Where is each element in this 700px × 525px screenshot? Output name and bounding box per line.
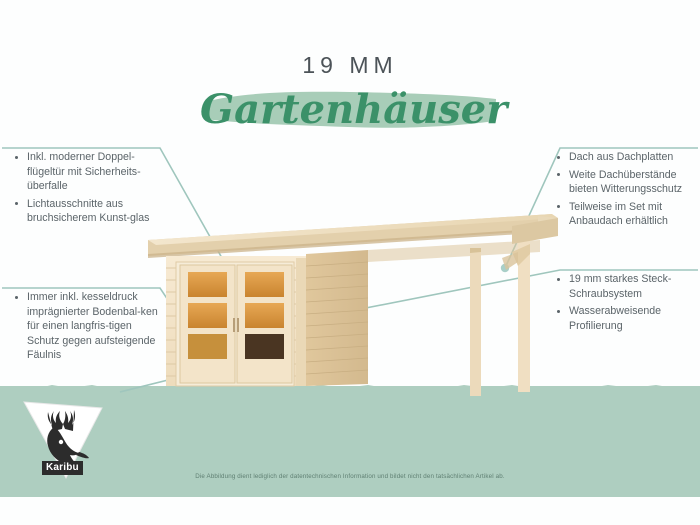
callout-item: Weite Dachüberstände bieten Witterungssc… — [556, 168, 700, 197]
poster-canvas: 19 MM Gartenhäuser — [0, 0, 700, 525]
callout-right-top: Dach aus Dachplatten Weite Dachüberständ… — [556, 150, 700, 232]
brand-logo: Karibu — [18, 398, 110, 483]
callout-item: Wasserabweisende Profilierung — [556, 304, 700, 333]
callout-item: Dach aus Dachplatten — [556, 150, 700, 165]
callout-right-bottom: 19 mm starkes Steck-Schraubsystem Wasser… — [556, 272, 700, 336]
callout-item: Inkl. moderner Doppel-flügeltür mit Sich… — [14, 150, 166, 194]
callout-item: Teilweise im Set mit Anbaudach erhältlic… — [556, 200, 700, 229]
callout-item: Immer inkl. kesseldruck imprägnierter Bo… — [14, 290, 166, 363]
disclaimer-text: Die Abbildung dient lediglich der datent… — [0, 473, 700, 480]
garden-house-illustration — [140, 196, 560, 400]
callout-left-bottom: Immer inkl. kesseldruck imprägnierter Bo… — [14, 290, 166, 366]
callout-left-top: Inkl. moderner Doppel-flügeltür mit Sich… — [14, 150, 166, 229]
callout-item: Lichtausschnitte aus bruchsicherem Kunst… — [14, 197, 166, 226]
callout-item: 19 mm starkes Steck-Schraubsystem — [556, 272, 700, 301]
